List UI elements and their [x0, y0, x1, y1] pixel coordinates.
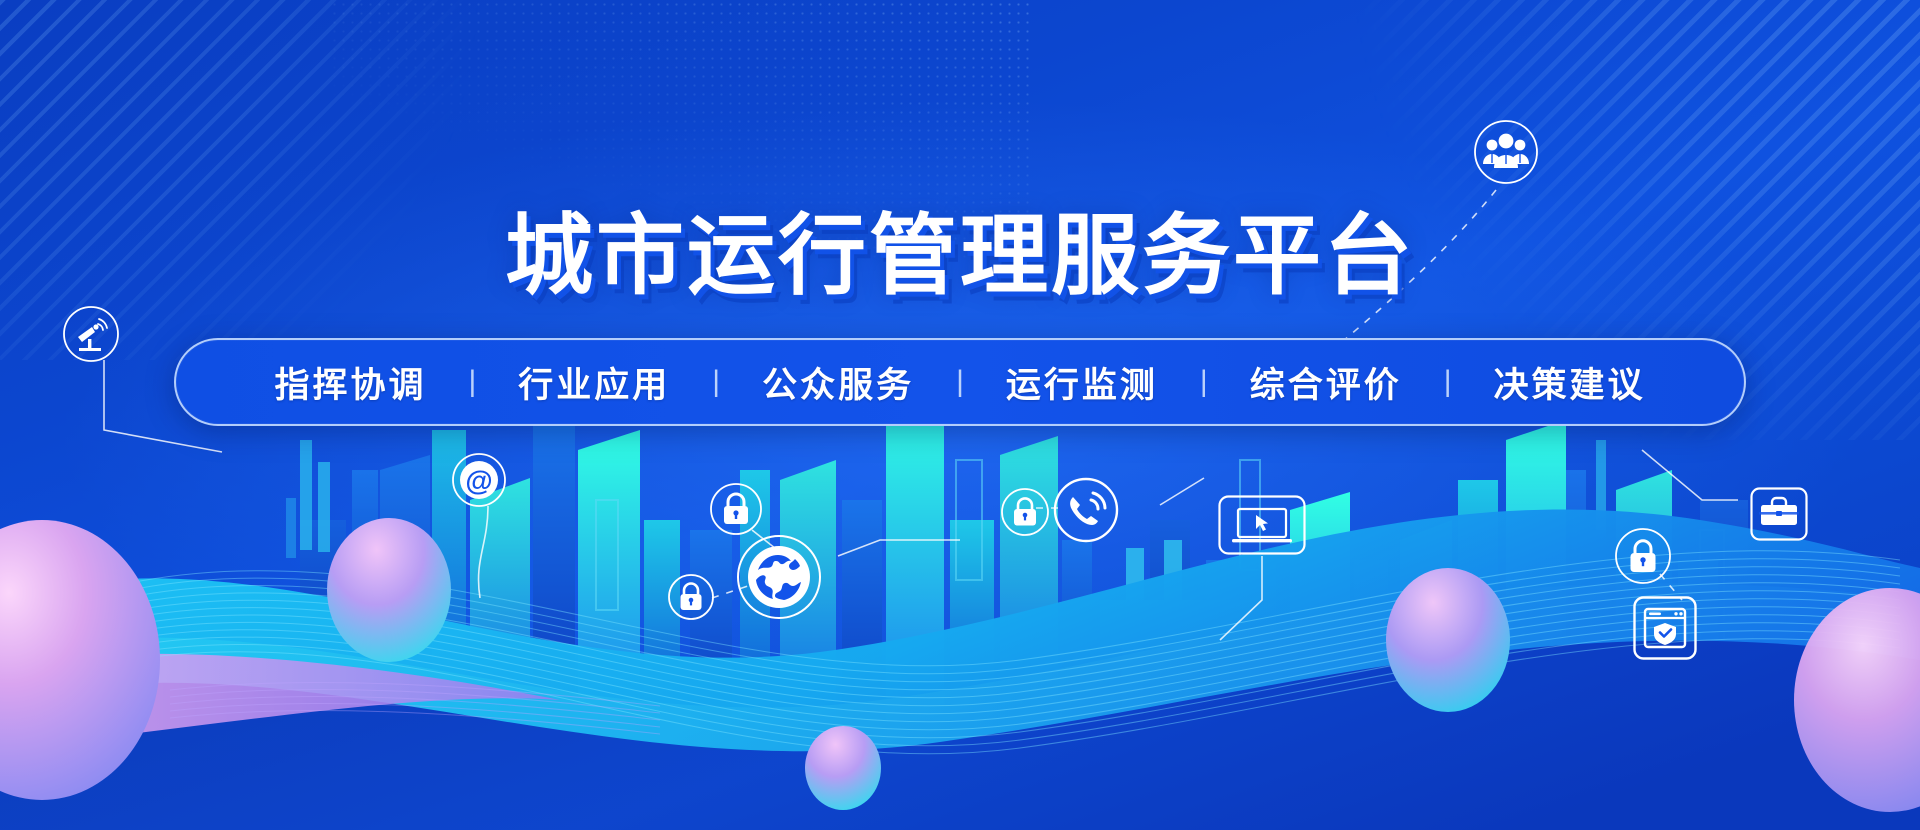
lock-icon [709, 482, 763, 536]
globe-icon [736, 534, 822, 620]
browser-shield-icon [1633, 596, 1697, 660]
satellite-dish-icon [62, 305, 120, 363]
city-platform-banner: @ [0, 0, 1920, 830]
nav-item-zhihuixietiao[interactable]: 指挥协调 [232, 357, 468, 408]
nav-separator: | [468, 365, 476, 399]
nav-separator: | [1444, 365, 1452, 399]
nav-item-hangyeyingyong[interactable]: 行业应用 [476, 357, 712, 408]
lock-icon [667, 573, 715, 621]
nav-item-gongzhongfuwu[interactable]: 公众服务 [720, 357, 956, 408]
nav-separator: | [956, 365, 964, 399]
laptop-cursor-icon [1218, 495, 1306, 555]
nav-separator: | [1200, 365, 1208, 399]
svg-text:@: @ [465, 465, 492, 496]
nav-item-juecejianyi[interactable]: 决策建议 [1452, 357, 1688, 408]
briefcase-icon [1750, 487, 1808, 541]
lock-icon [1614, 527, 1672, 585]
nav-item-zonghepingjia[interactable]: 综合评价 [1208, 357, 1444, 408]
at-sign-icon: @ [451, 452, 507, 508]
people-group-icon [1472, 118, 1540, 186]
nav-item-yunxingjiance[interactable]: 运行监测 [964, 357, 1200, 408]
nav-separator: | [712, 365, 720, 399]
phone-ringing-icon [1053, 477, 1119, 543]
main-nav-bar: 指挥协调 | 行业应用 | 公众服务 | 运行监测 | 综合评价 | 决策建议 [174, 338, 1746, 426]
lock-icon [1000, 487, 1050, 537]
